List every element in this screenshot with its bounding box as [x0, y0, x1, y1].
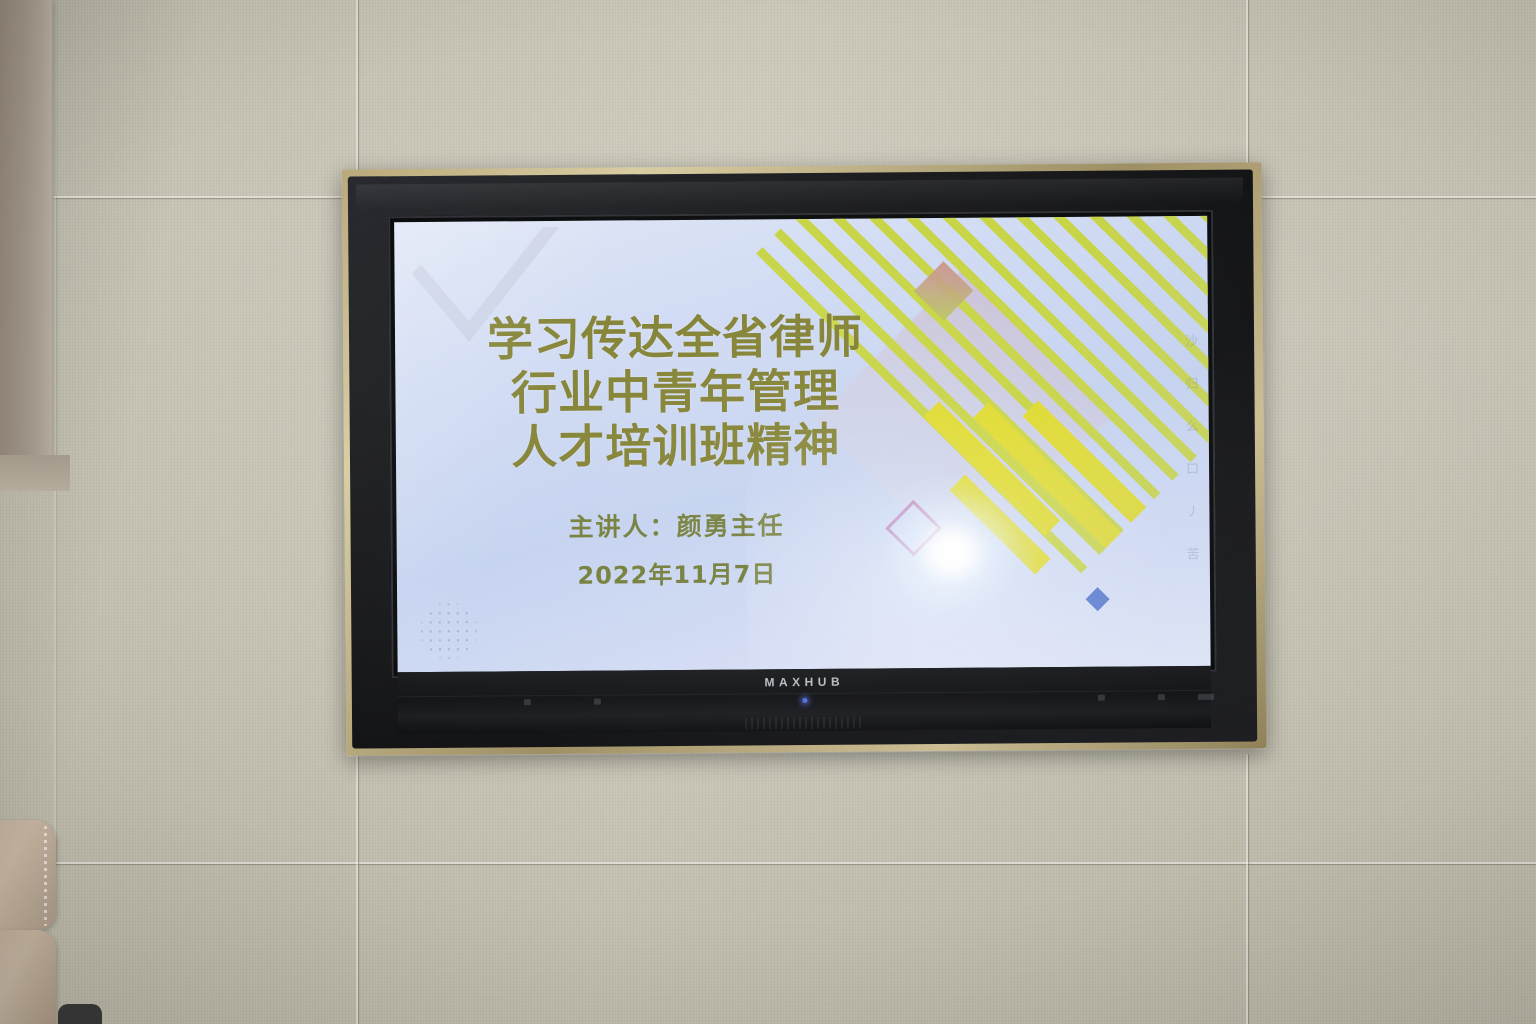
- maxhub-logo: MAXHUB: [764, 675, 844, 690]
- slide-speaker: 主讲人：颜勇主任: [396, 505, 956, 545]
- chair-backrest: [0, 930, 56, 1024]
- port-marker-4[interactable]: [1158, 694, 1165, 700]
- wall-seam-vertical-left: [356, 0, 358, 196]
- chair-stitching: [44, 826, 47, 926]
- speaker-grille: [745, 717, 865, 730]
- port-marker-3[interactable]: [1098, 695, 1105, 701]
- port-marker-2[interactable]: [594, 699, 601, 705]
- side-watermark-text: 沙 归 么 口 丿 苦: [1181, 334, 1202, 573]
- wall-seam-vertical-left2: [356, 754, 358, 1024]
- wall-pilaster-foot: [0, 455, 70, 491]
- display-bezel: 沙 归 么 口 丿 苦 学习传达全省律师 行业中青年管理 人才培训班精神 主讲人…: [348, 169, 1257, 748]
- maxhub-interactive-display[interactable]: 沙 归 么 口 丿 苦 学习传达全省律师 行业中青年管理 人才培训班精神 主讲人…: [342, 162, 1267, 755]
- port-marker-5[interactable]: [1198, 694, 1214, 700]
- chair-armrest: [58, 1004, 102, 1024]
- power-led-indicator[interactable]: [802, 698, 807, 703]
- wall-seam-vertical-right2: [1246, 754, 1248, 1024]
- slide-text-block: 学习传达全省律师 行业中青年管理 人才培训班精神 主讲人：颜勇主任 2022年1…: [395, 310, 957, 593]
- slide-date: 2022年11月7日: [397, 553, 957, 592]
- wall-seam-vertical-far: [54, 196, 56, 864]
- presentation-slide[interactable]: 沙 归 么 口 丿 苦 学习传达全省律师 行业中青年管理 人才培训班精神 主讲人…: [394, 216, 1211, 672]
- slide-title-line-2: 行业中青年管理: [395, 364, 955, 422]
- slide-title-line-1: 学习传达全省律师: [395, 310, 955, 368]
- chair-headrest: [0, 820, 56, 930]
- display-bottom-bezel: MAXHUB: [398, 666, 1211, 734]
- slide-title-line-3: 人才培训班精神: [396, 417, 956, 475]
- wall-pilaster: [0, 0, 52, 470]
- wall-seam-horizontal-bottom: [0, 862, 1536, 864]
- bezel-seam-line: [398, 690, 1211, 697]
- dot-grid-decoration: [417, 600, 479, 662]
- room-scene: 沙 归 么 口 丿 苦 学习传达全省律师 行业中青年管理 人才培训班精神 主讲人…: [0, 0, 1536, 1024]
- bezel-highlight: [356, 178, 1243, 211]
- port-marker-1[interactable]: [524, 699, 531, 705]
